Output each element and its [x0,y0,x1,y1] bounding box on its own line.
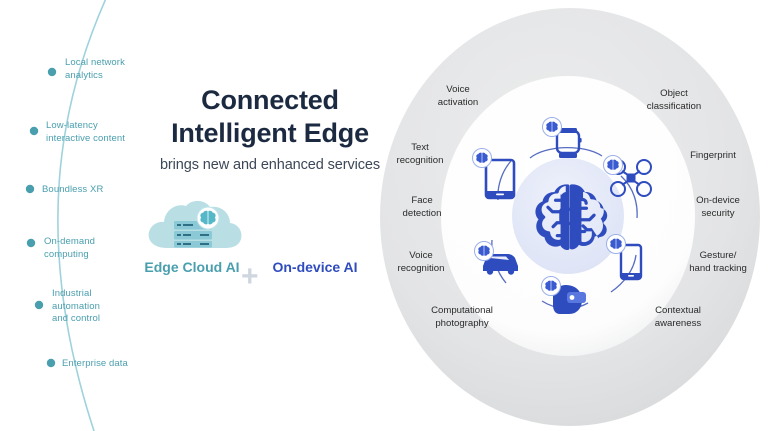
benefit-label: Low-latency interactive content [46,120,125,145]
title-line-1: Connected [150,84,390,117]
brain-badge-icon [543,118,562,137]
page-title: Connected Intelligent Edge brings new an… [150,84,390,174]
capability-label-text-recognition: Text recognition [382,142,458,167]
capability-label-object-classification: Object classification [628,88,720,113]
benefit-dot [35,301,43,309]
brain-badge-icon [197,207,219,229]
edge-cloud-ai-label: Edge Cloud AI [132,258,252,276]
benefit-dot [30,127,38,135]
brain-badge-icon [473,149,492,168]
benefit-dot [47,359,55,367]
benefit-label: Boundless XR [42,184,103,197]
on-device-ai-label: On-device AI [260,258,370,276]
ai-composition-row: Edge Cloud AI + On-device AI [140,196,380,302]
on-device-ai-diagram: Voice activationObject classificationTex… [378,0,768,431]
capability-label-face-detection: Face detection [386,195,458,220]
brain-badge-icon [475,242,494,261]
capability-label-voice-activation: Voice activation [418,84,498,109]
benefit-label: Enterprise data [62,358,128,371]
plus-icon: + [241,262,259,292]
brain-badge-icon [607,235,626,254]
page-subtitle: brings new and enhanced services [150,156,390,174]
benefit-label: Industrial automation and control [52,288,100,326]
capability-label-voice-recognition: Voice recognition [382,250,460,275]
capability-label-fingerprint: Fingerprint [672,150,754,163]
benefit-label: On-demand computing [44,236,95,261]
brain-badge-icon [604,156,623,175]
edge-cloud-ai-icon [145,196,245,256]
brain-badge-icon [542,277,561,296]
benefit-dot [26,185,34,193]
capability-label-contextual-awareness: Contextual awareness [632,305,724,330]
capability-label-gesture-hand-tracking: Gesture/ hand tracking [672,250,764,275]
edge-benefits-panel: Local network analyticsLow-latency inter… [0,0,400,431]
capability-label-on-device-security: On-device security [678,195,758,220]
capability-label-computational-photography: Computational photography [412,305,512,330]
benefit-dot [27,239,35,247]
benefit-label: Local network analytics [65,57,125,82]
benefit-dot [48,68,56,76]
slide-canvas: Local network analyticsLow-latency inter… [0,0,768,431]
title-line-2: Intelligent Edge [150,117,390,150]
